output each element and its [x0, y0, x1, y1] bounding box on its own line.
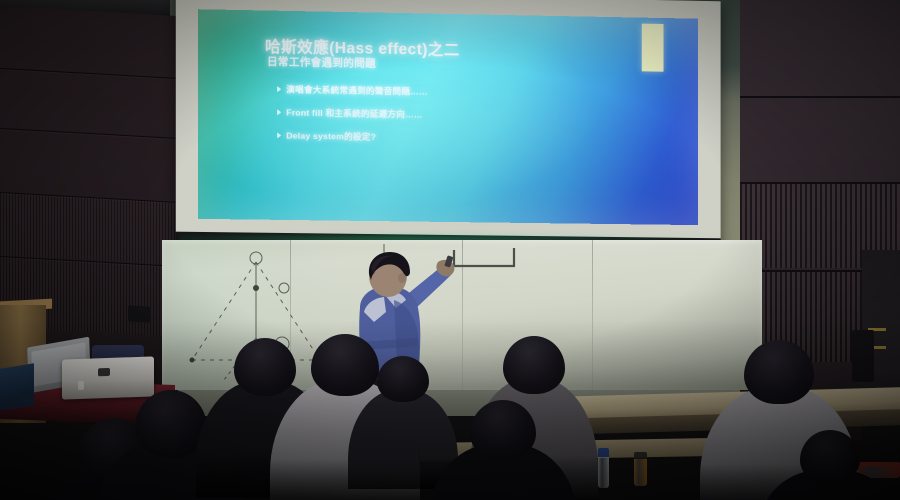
presentation-slide: 哈斯效應(Hass effect)之二 日常工作會遇到的問題 演唱會大系統常遇到…	[198, 9, 698, 225]
attendee-head	[377, 356, 429, 402]
water-bottle	[598, 448, 609, 488]
projector-lens-icon	[98, 368, 110, 376]
laptop-secondary	[0, 363, 34, 410]
attendee-head	[744, 340, 814, 404]
triangle-marker-icon	[277, 86, 281, 92]
orange-drink	[634, 452, 647, 486]
slide-subtitle: 日常工作會遇到的問題	[267, 54, 376, 71]
bullet-text: Delay system的設定?	[286, 129, 376, 142]
bullet-text: Front fill 和主系統的延遲方向……	[286, 106, 422, 120]
attendee-head	[800, 430, 860, 484]
bottle-cap	[598, 448, 609, 457]
triangle-marker-icon	[277, 132, 281, 138]
bottle-cap	[634, 452, 647, 459]
attendee-head	[503, 336, 565, 394]
triangle-marker-icon	[277, 109, 281, 115]
lecture-hall-scene: 哈斯效應(Hass effect)之二 日常工作會遇到的問題 演唱會大系統常遇到…	[0, 0, 900, 500]
slide-bullet-list: 演唱會大系統常遇到的聲音問題…… Front fill 和主系統的延遲方向…… …	[277, 83, 607, 157]
list-item: 演唱會大系統常遇到的聲音問題……	[277, 83, 607, 100]
slide-accent-rectangle	[642, 24, 664, 72]
list-item: Front fill 和主系統的延遲方向……	[277, 106, 607, 123]
bullet-text: 演唱會大系統常遇到的聲音問題……	[286, 83, 427, 97]
projector-knob	[78, 381, 84, 390]
attendee-center-dark	[430, 400, 576, 500]
list-item: Delay system的設定?	[277, 129, 607, 146]
attendee-far-right	[760, 430, 900, 500]
attendee-head	[470, 400, 536, 460]
wall-speaker-left	[128, 305, 150, 323]
